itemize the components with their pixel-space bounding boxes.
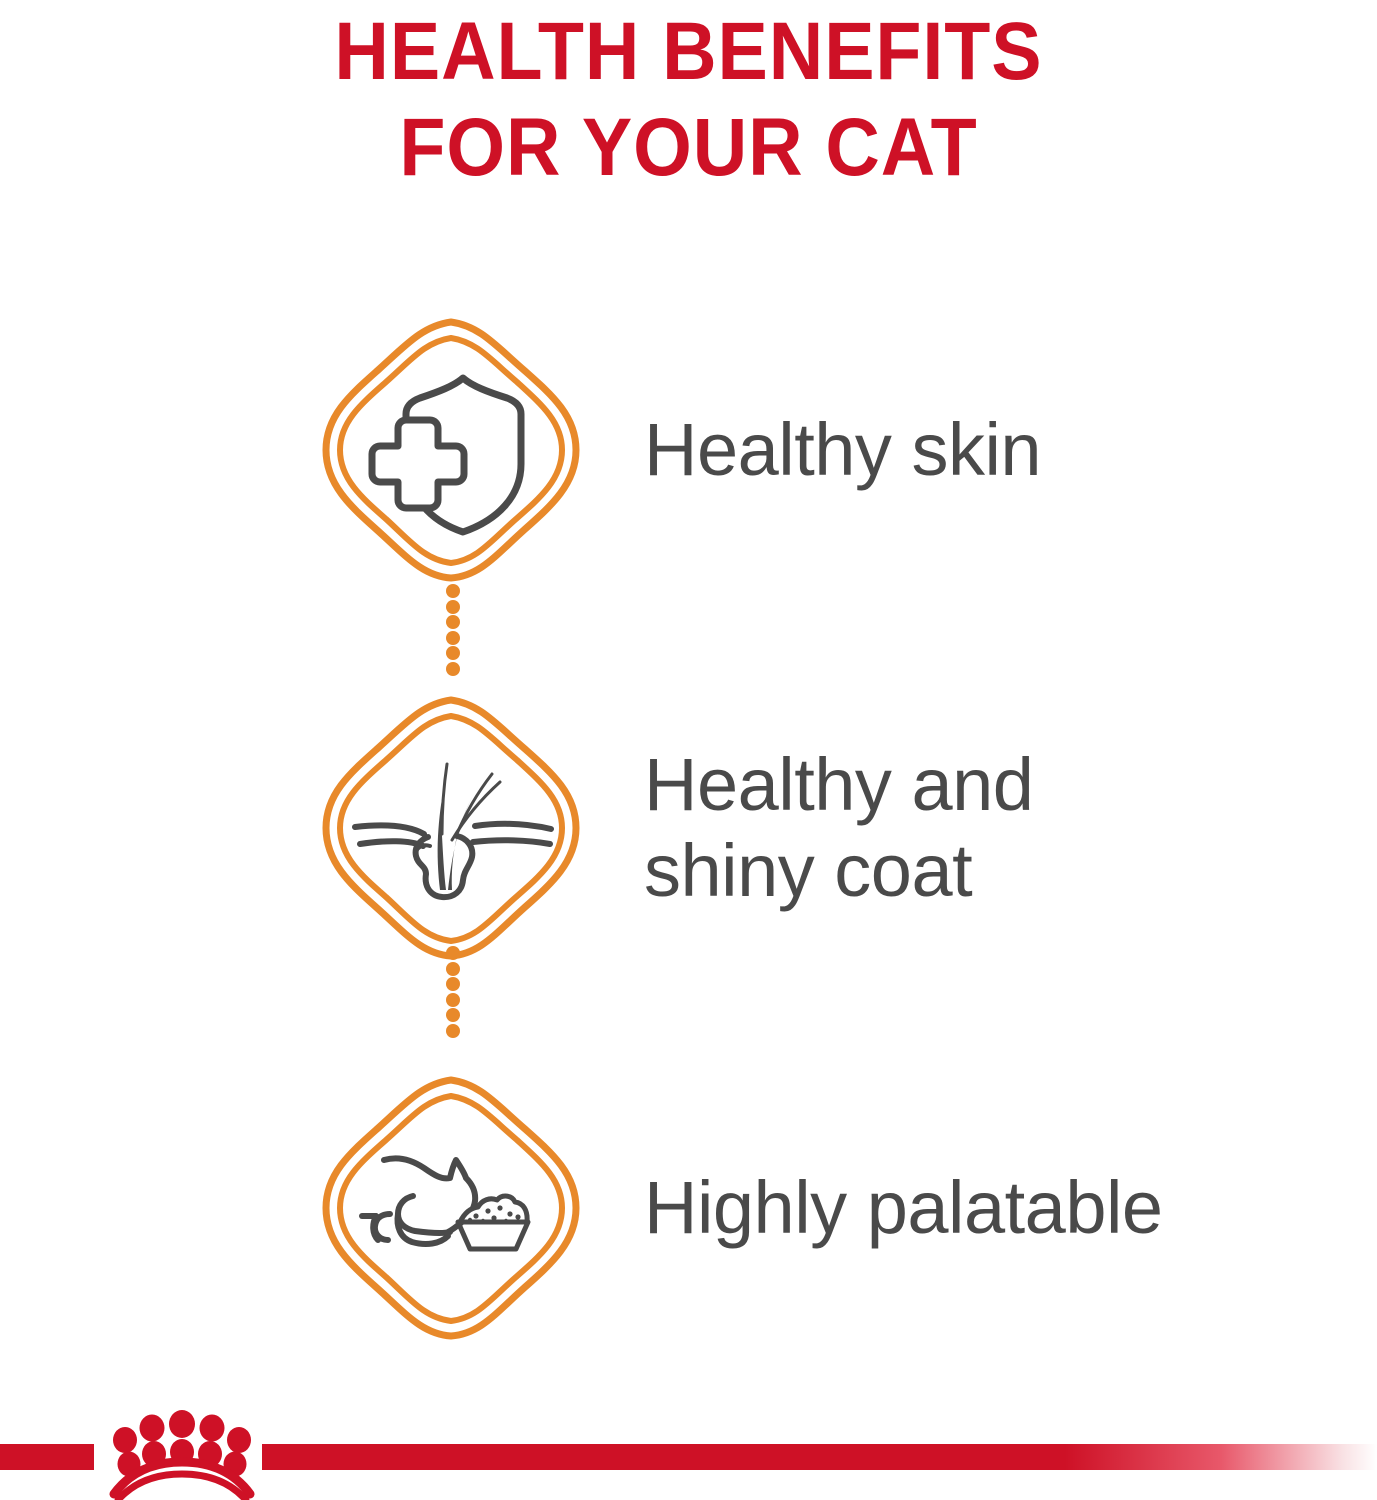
connector-dot: [446, 1024, 460, 1038]
hair-follicle-icon: [320, 694, 582, 962]
connector-dot: [446, 631, 460, 645]
health-benefits-infographic: HEALTH BENEFITS FOR YOUR CAT Healthy ski…: [0, 0, 1377, 1500]
page-title: HEALTH BENEFITS FOR YOUR CAT: [0, 4, 1377, 196]
connector-dots-2: [442, 946, 464, 1038]
title-line-1: HEALTH BENEFITS: [55, 4, 1322, 100]
benefits-list: Healthy skin: [0, 300, 1377, 1348]
benefit-item-highly-palatable: Highly palatable: [0, 1068, 1377, 1348]
footer-bar-left: [0, 1444, 94, 1470]
connector-dot: [446, 993, 460, 1007]
connector-dot: [446, 600, 460, 614]
footer: [0, 1404, 1377, 1500]
connector-dot: [446, 615, 460, 629]
benefit-item-healthy-skin: Healthy skin: [0, 310, 1377, 590]
benefit-label: Healthy skin: [644, 407, 1041, 493]
connector-dot: [446, 977, 460, 991]
connector-dots-1: [442, 584, 464, 676]
benefit-label: Highly palatable: [644, 1165, 1163, 1251]
footer-bar-right: [262, 1444, 1377, 1470]
cat-eating-bowl-icon: [320, 1074, 582, 1342]
royal-canin-crown-logo: [96, 1404, 268, 1500]
connector-dot: [446, 1008, 460, 1022]
connector-dot: [446, 946, 460, 960]
connector-dot: [446, 584, 460, 598]
connector-dot: [446, 662, 460, 676]
benefit-label: Healthy and shiny coat: [644, 742, 1033, 914]
title-line-2: FOR YOUR CAT: [55, 100, 1322, 196]
connector-dot: [446, 962, 460, 976]
connector-dot: [446, 646, 460, 660]
benefit-item-healthy-shiny-coat: Healthy and shiny coat: [0, 688, 1377, 968]
shield-plus-icon: [320, 316, 582, 584]
